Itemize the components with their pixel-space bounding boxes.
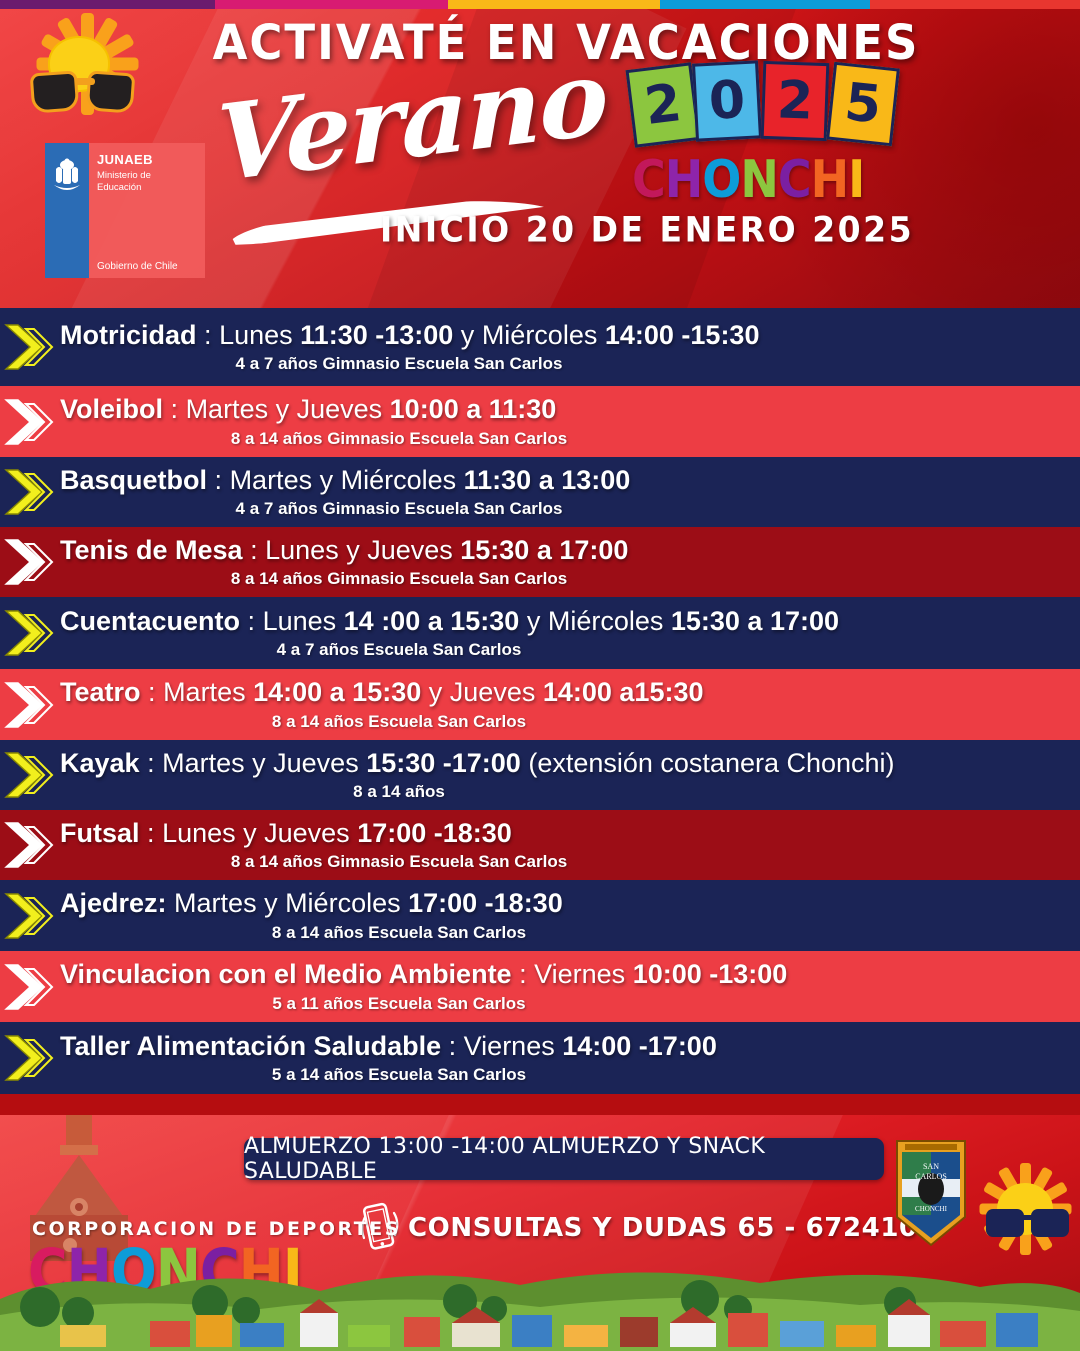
activity-details: 8 a 14 años Escuela San Carlos	[60, 712, 1068, 732]
activity-name: Teatro	[60, 677, 141, 707]
activity-row: Motricidad : Lunes 11:30 -13:00 y Miérco…	[0, 308, 1080, 386]
activity-conjunction: y	[461, 320, 475, 350]
footer-lens-right	[1031, 1209, 1069, 1237]
activity-days-2: Miércoles	[548, 606, 664, 636]
school-emblem-icon: SAN CARLOS CHONCHI	[895, 1139, 967, 1249]
sunglasses-lens-right	[86, 70, 136, 113]
activity-time-2: 14:00 -15:30	[605, 320, 760, 350]
year-block-1: 0	[692, 60, 762, 141]
activity-separator: :	[250, 535, 258, 565]
activity-row: Teatro : Martes 14:00 a 15:30 y Jueves 1…	[0, 669, 1080, 740]
chonchi-letter-0: C	[632, 149, 665, 209]
activity-days-1: Martes y Jueves	[162, 748, 359, 778]
activity-row-body: Ajedrez: Martes y Miércoles 17:00 -18:30…	[60, 888, 1080, 942]
activity-headline: Ajedrez: Martes y Miércoles 17:00 -18:30	[60, 888, 1068, 918]
activity-name: Kayak	[60, 748, 140, 778]
activity-days-1: Martes y Miércoles	[174, 888, 401, 918]
activity-separator: :	[147, 818, 155, 848]
activity-name: Vinculacion con el Medio Ambiente	[60, 959, 512, 989]
double-chevron-icon	[0, 527, 60, 597]
double-chevron-icon	[0, 308, 60, 386]
poster-footer: ALMUERZO 13:00 -14:00 ALMUERZO Y SNACK S…	[0, 1115, 1080, 1351]
activity-days-2: Miércoles	[482, 320, 598, 350]
activity-time-1: 17:00 -18:30	[357, 818, 512, 848]
activity-details: 4 a 7 años Gimnasio Escuela San Carlos	[60, 499, 1068, 519]
chonchi-letter-2: O	[702, 149, 740, 209]
top-strip-segment-0	[0, 0, 215, 9]
activity-days-1: Lunes y Jueves	[265, 535, 453, 565]
double-chevron-icon	[0, 951, 60, 1022]
year-block-3: 5	[826, 62, 900, 146]
activity-name: Futsal	[60, 818, 140, 848]
activity-name: Basquetbol	[60, 465, 207, 495]
activity-headline: Futsal : Lunes y Jueves 17:00 -18:30	[60, 818, 1068, 848]
activity-details: 4 a 7 años Gimnasio Escuela San Carlos	[60, 354, 1068, 374]
footer-bridge	[1023, 1215, 1035, 1220]
activity-headline: Basquetbol : Martes y Miércoles 11:30 a …	[60, 465, 1068, 495]
activity-time-1: 10:00 -13:00	[633, 959, 788, 989]
activity-name: Taller Alimentación Saludable	[60, 1031, 441, 1061]
activity-time-1: 14:00 -17:00	[562, 1031, 717, 1061]
activity-time-1: 14 :00 a 15:30	[344, 606, 520, 636]
chonchi-letter-5: H	[811, 149, 849, 209]
lunch-banner: ALMUERZO 13:00 -14:00 ALMUERZO Y SNACK S…	[244, 1138, 884, 1180]
activity-separator: :	[148, 677, 156, 707]
activity-headline: Teatro : Martes 14:00 a 15:30 y Jueves 1…	[60, 677, 1068, 707]
activity-details: 4 a 7 años Escuela San Carlos	[60, 640, 1068, 660]
activity-row: Ajedrez: Martes y Miércoles 17:00 -18:30…	[0, 880, 1080, 951]
activity-row-body: Taller Alimentación Saludable : Viernes …	[60, 1031, 1080, 1085]
activity-name: Ajedrez:	[60, 888, 167, 918]
chonchi-letter-3: N	[740, 149, 778, 209]
double-chevron-icon	[0, 810, 60, 880]
activity-list: Motricidad : Lunes 11:30 -13:00 y Miérco…	[0, 308, 1080, 1094]
activity-headline: Cuentacuento : Lunes 14 :00 a 15:30 y Mi…	[60, 606, 1068, 636]
activity-row-body: Teatro : Martes 14:00 a 15:30 y Jueves 1…	[60, 677, 1080, 731]
activity-days-1: Martes y Jueves	[186, 394, 383, 424]
chonchi-wordmark: CHONCHI	[632, 149, 864, 209]
activity-separator: :	[171, 394, 179, 424]
activity-row: Tenis de Mesa : Lunes y Jueves 15:30 a 1…	[0, 527, 1080, 597]
activity-row: Voleibol : Martes y Jueves 10:00 a 11:30…	[0, 386, 1080, 457]
activity-separator: :	[248, 606, 256, 636]
chonchi-letter-6: I	[848, 149, 864, 209]
activity-days-1: Lunes	[263, 606, 337, 636]
activity-details: 5 a 11 años Escuela San Carlos	[60, 994, 1068, 1014]
activity-time-1: 15:30 -17:00	[366, 748, 521, 778]
activity-row-body: Voleibol : Martes y Jueves 10:00 a 11:30…	[60, 394, 1080, 448]
double-chevron-icon	[0, 597, 60, 669]
junaeb-logo: JUNAEB Ministerio deEducación Gobierno d…	[45, 143, 205, 278]
activity-headline: Tenis de Mesa : Lunes y Jueves 15:30 a 1…	[60, 535, 1068, 565]
activity-row-body: Motricidad : Lunes 11:30 -13:00 y Miérco…	[60, 320, 1080, 374]
activity-row-body: Tenis de Mesa : Lunes y Jueves 15:30 a 1…	[60, 535, 1080, 589]
activity-time-1: 11:30 a 13:00	[464, 465, 631, 495]
year-2025-blocks: 2025	[630, 60, 900, 145]
junaeb-government: Gobierno de Chile	[97, 261, 178, 272]
footer-sunglasses-icon	[983, 1207, 1075, 1241]
activity-details: 8 a 14 años Gimnasio Escuela San Carlos	[60, 569, 1068, 589]
activity-name: Voleibol	[60, 394, 163, 424]
activity-conjunction: y	[429, 677, 443, 707]
activity-time-1: 15:30 a 17:00	[460, 535, 628, 565]
activity-name: Tenis de Mesa	[60, 535, 243, 565]
double-chevron-icon	[0, 1022, 60, 1094]
sunglasses-lens-left	[30, 70, 80, 113]
sunglasses-icon	[29, 68, 141, 116]
activity-headline: Motricidad : Lunes 11:30 -13:00 y Miérco…	[60, 320, 1068, 350]
activity-time-2: 14:00 a15:30	[543, 677, 704, 707]
activity-time-2: 15:30 a 17:00	[671, 606, 839, 636]
activity-time-1: 14:00 a 15:30	[253, 677, 421, 707]
activity-time-1: 17:00 -18:30	[408, 888, 563, 918]
activity-details: 8 a 14 años	[60, 782, 1068, 802]
activity-details: 5 a 14 años Escuela San Carlos	[60, 1065, 1068, 1085]
activity-details: 8 a 14 años Gimnasio Escuela San Carlos	[60, 429, 1068, 449]
top-strip-segment-3	[660, 0, 870, 9]
double-chevron-icon	[0, 669, 60, 740]
town-skyline-illustration	[0, 1255, 1080, 1351]
activity-extra: (extensión costanera Chonchi)	[528, 748, 894, 778]
footer-lens-left	[986, 1209, 1024, 1237]
activity-row-body: Futsal : Lunes y Jueves 17:00 -18:30 8 a…	[60, 818, 1080, 872]
activity-separator: :	[147, 748, 155, 778]
activity-headline: Taller Alimentación Saludable : Viernes …	[60, 1031, 1068, 1061]
activity-row: Vinculacion con el Medio Ambiente : Vier…	[0, 951, 1080, 1022]
contact-phone-text: CONSULTAS Y DUDAS 65 - 672410	[408, 1213, 918, 1243]
double-chevron-icon	[0, 386, 60, 457]
activity-separator: :	[449, 1031, 457, 1061]
svg-text:CARLOS: CARLOS	[915, 1172, 947, 1181]
activity-row-body: Kayak : Martes y Jueves 15:30 -17:00 (ex…	[60, 748, 1080, 802]
activity-separator: :	[519, 959, 527, 989]
activity-row-body: Basquetbol : Martes y Miércoles 11:30 a …	[60, 465, 1080, 519]
activity-row: Futsal : Lunes y Jueves 17:00 -18:30 8 a…	[0, 810, 1080, 880]
poster-header: JUNAEB Ministerio deEducación Gobierno d…	[0, 0, 1080, 308]
svg-text:SAN: SAN	[923, 1162, 939, 1171]
year-block-2: 2	[761, 61, 830, 141]
activity-headline: Vinculacion con el Medio Ambiente : Vier…	[60, 959, 1068, 989]
poster-subtitle-inicio: INICIO 20 DE ENERO 2025	[380, 209, 914, 250]
activity-separator: :	[204, 320, 212, 350]
top-strip-segment-4	[870, 0, 1080, 9]
activity-details: 8 a 14 años Escuela San Carlos	[60, 923, 1068, 943]
junaeb-name: JUNAEB	[97, 152, 199, 167]
activity-days-1: Lunes y Jueves	[162, 818, 350, 848]
activity-days-2: Jueves	[450, 677, 536, 707]
chonchi-letter-1: H	[665, 149, 703, 209]
sunglasses-bridge	[75, 78, 95, 85]
chile-coat-of-arms-icon	[51, 155, 83, 199]
activity-days-1: Lunes	[219, 320, 293, 350]
activity-row: Cuentacuento : Lunes 14 :00 a 15:30 y Mi…	[0, 597, 1080, 669]
activity-row-body: Vinculacion con el Medio Ambiente : Vier…	[60, 959, 1080, 1013]
activity-time-1: 11:30 -13:00	[300, 320, 453, 350]
activity-headline: Kayak : Martes y Jueves 15:30 -17:00 (ex…	[60, 748, 1068, 778]
activity-row-body: Cuentacuento : Lunes 14 :00 a 15:30 y Mi…	[60, 606, 1080, 660]
junaeb-text-block: JUNAEB Ministerio deEducación Gobierno d…	[89, 143, 205, 278]
top-strip-segment-1	[215, 0, 448, 9]
double-chevron-icon	[0, 880, 60, 951]
activity-row: Basquetbol : Martes y Miércoles 11:30 a …	[0, 457, 1080, 527]
chile-flag-band	[45, 143, 89, 278]
double-chevron-icon	[0, 457, 60, 527]
double-chevron-icon	[0, 740, 60, 810]
year-block-0: 2	[625, 62, 700, 147]
sun-sunglasses-icon	[22, 18, 152, 136]
junaeb-ministry: Ministerio deEducación	[97, 170, 199, 194]
activity-days-1: Viernes	[534, 959, 625, 989]
svg-text:CHONCHI: CHONCHI	[915, 1205, 948, 1213]
top-color-strip	[0, 0, 1080, 9]
activity-details: 8 a 14 años Gimnasio Escuela San Carlos	[60, 852, 1068, 872]
activity-row: Taller Alimentación Saludable : Viernes …	[0, 1022, 1080, 1094]
activity-row: Kayak : Martes y Jueves 15:30 -17:00 (ex…	[0, 740, 1080, 810]
top-strip-segment-2	[448, 0, 660, 9]
footer-sun-sunglasses-icon	[975, 1165, 1080, 1265]
activity-name: Cuentacuento	[60, 606, 240, 636]
activity-days-1: Martes	[163, 677, 246, 707]
activity-name: Motricidad	[60, 320, 197, 350]
activity-separator: :	[215, 465, 223, 495]
activity-days-1: Martes y Miércoles	[230, 465, 457, 495]
activity-headline: Voleibol : Martes y Jueves 10:00 a 11:30	[60, 394, 1068, 424]
activity-time-1: 10:00 a 11:30	[390, 394, 557, 424]
poster-root: JUNAEB Ministerio deEducación Gobierno d…	[0, 0, 1080, 1351]
activity-days-1: Viernes	[464, 1031, 555, 1061]
chonchi-letter-4: C	[778, 149, 811, 209]
activity-conjunction: y	[527, 606, 541, 636]
